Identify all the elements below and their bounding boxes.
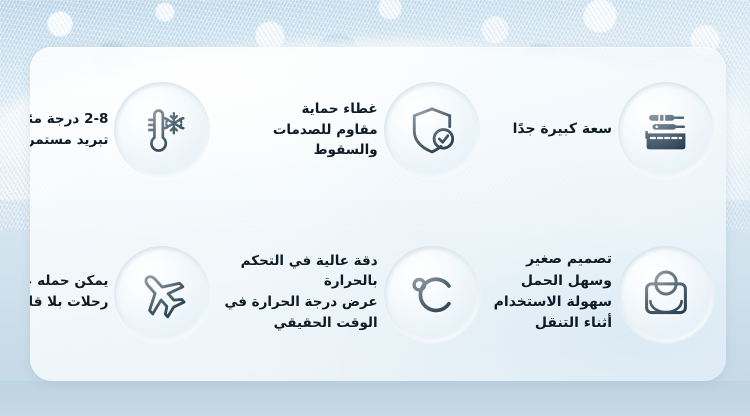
feature-precise-temperature-control: دقة عالية في التحكم بالحرارة عرض درجة ال… (216, 209, 485, 367)
feature-temperature-range: 2-8 درجة مئوية تبريد مستمر (30, 51, 216, 209)
feature-line: دقة عالية في التحكم (224, 251, 377, 272)
feature-line: عرض درجة الحرارة في (224, 292, 377, 313)
icon-well (618, 82, 714, 178)
thermometer-snowflake-icon (135, 103, 189, 157)
feature-line: بالحرارة (224, 271, 377, 292)
handbag-icon (639, 267, 693, 321)
bottom-color-band (0, 381, 750, 416)
feature-line: والسقوط (224, 140, 377, 161)
feature-compact-portable-design: تصميم صغير وسهل الحمل سهولة الاستخدام أث… (486, 209, 720, 367)
feature-line: رحلات بلا قلق (30, 292, 108, 313)
feature-text: دقة عالية في التحكم بالحرارة عرض درجة ال… (222, 251, 377, 333)
feature-shock-drop-protection: غطاء حماية مقاوم للصدمات والسقوط (216, 51, 485, 209)
feature-very-large-capacity: سعة كبيرة جدًا (486, 51, 720, 209)
celsius-degree-icon (405, 267, 459, 321)
icon-well (114, 246, 210, 342)
airplane-icon (135, 267, 189, 321)
feature-text: سعة كبيرة جدًا (492, 119, 612, 140)
icon-well (384, 246, 480, 342)
feature-line: وسهل الحمل (494, 271, 612, 292)
feature-line: سعة كبيرة جدًا (494, 119, 612, 140)
feature-airplane-carry-on: يمكن حمله على الطائرة رحلات بلا قلق (30, 209, 216, 367)
feature-text: غطاء حماية مقاوم للصدمات والسقوط (222, 99, 377, 161)
feature-line: سهولة الاستخدام (494, 292, 612, 313)
cooler-box-with-syringes-icon (639, 103, 693, 157)
feature-line: الوقت الحقيقي (224, 313, 377, 334)
feature-line: تصميم صغير (494, 249, 612, 270)
feature-text: 2-8 درجة مئوية تبريد مستمر (30, 109, 108, 150)
feature-line: غطاء حماية (224, 99, 377, 120)
shield-check-icon (405, 103, 459, 157)
poster-stage: سعة كبيرة جدًا (0, 0, 750, 416)
feature-grid: سعة كبيرة جدًا (30, 47, 726, 381)
feature-line: أثناء التنقل (494, 313, 612, 334)
icon-well (618, 246, 714, 342)
feature-text: يمكن حمله على الطائرة رحلات بلا قلق (30, 271, 108, 312)
feature-line: 2-8 درجة مئوية (30, 109, 108, 130)
icon-well (384, 82, 480, 178)
feature-line: مقاوم للصدمات (224, 120, 377, 141)
icon-well (114, 82, 210, 178)
feature-line: يمكن حمله على الطائرة (30, 271, 108, 292)
feature-line: تبريد مستمر (30, 130, 108, 151)
frosted-feature-panel: سعة كبيرة جدًا (30, 47, 726, 381)
feature-text: تصميم صغير وسهل الحمل سهولة الاستخدام أث… (492, 249, 612, 334)
